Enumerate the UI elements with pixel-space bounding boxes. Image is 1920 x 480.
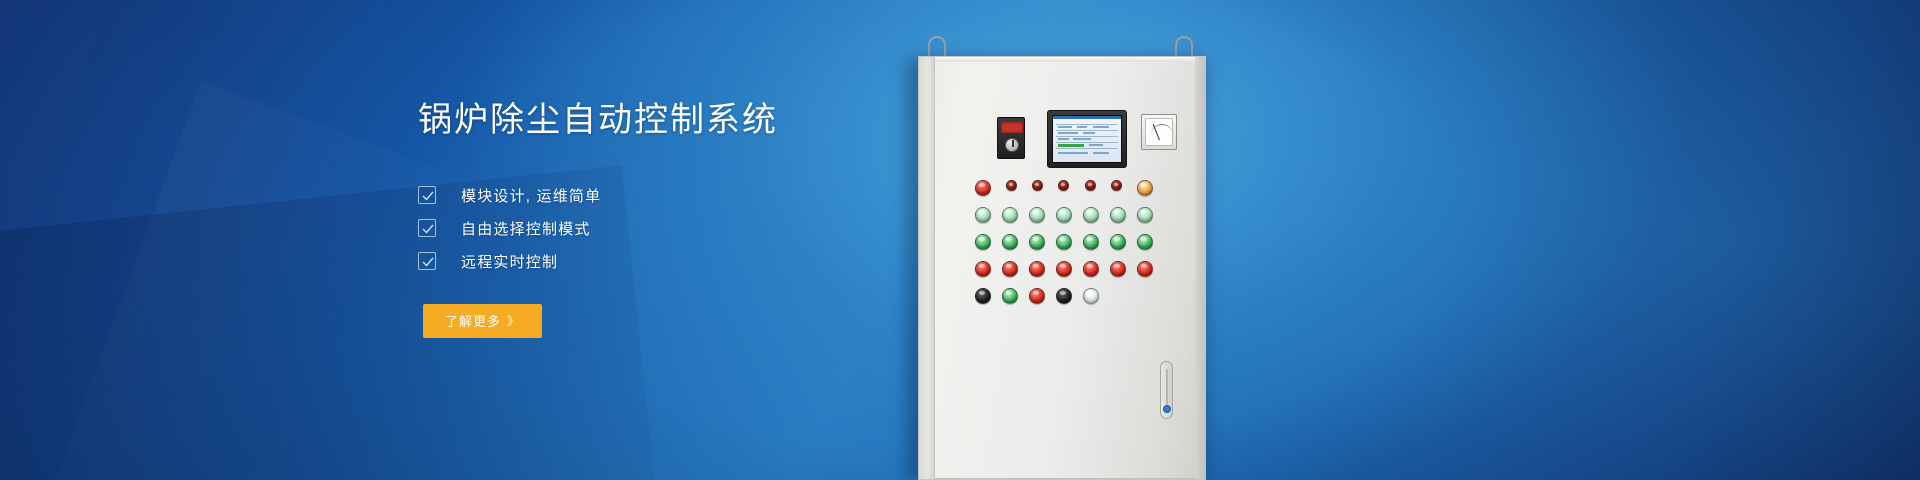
indicator-lamp-green[interactable] [975, 234, 991, 250]
hmi-grid-line [1056, 142, 1118, 143]
list-item: 模块设计, 运维简单 [418, 179, 978, 212]
indicator-lamp-light-green[interactable] [1056, 207, 1072, 223]
indicator-lamp-red[interactable] [1110, 261, 1126, 277]
knob-display [1001, 122, 1023, 133]
lifting-eye-icon [928, 36, 946, 58]
push-button-green[interactable] [1002, 288, 1018, 304]
lamp-row [975, 207, 1153, 223]
indicator-lamp-red[interactable] [1083, 261, 1099, 277]
indicator-lamp-light-green[interactable] [1110, 207, 1126, 223]
checkbox-checked-icon [418, 252, 436, 270]
lamp-row [975, 288, 1099, 304]
indicator-lamp-green[interactable] [1056, 234, 1072, 250]
hmi-titlebar [1053, 116, 1121, 119]
indicator-lamp-dark-red[interactable] [1085, 180, 1096, 191]
control-cabinet-photo [900, 0, 1320, 480]
indicator-lamp-dark-red[interactable] [1111, 180, 1122, 191]
learn-more-button[interactable]: 了解更多 》 [423, 304, 542, 338]
indicator-lamp-amber[interactable] [1137, 180, 1153, 196]
hmi-data-cell [1058, 126, 1072, 128]
selector-knob[interactable] [997, 117, 1025, 159]
feature-label: 模块设计, 运维简单 [461, 185, 601, 206]
indicator-lamp-red[interactable] [1056, 261, 1072, 277]
cabinet-hinge-strip [919, 57, 935, 479]
push-button-red[interactable] [1029, 288, 1045, 304]
handle-slot [1166, 369, 1168, 405]
lamp-row [975, 180, 1153, 196]
lifting-eye-icon [1175, 36, 1193, 58]
knob-dial-icon[interactable] [1005, 138, 1019, 152]
indicator-lamp-green[interactable] [1002, 234, 1018, 250]
indicator-lamp-red[interactable] [1137, 261, 1153, 277]
hero-banner: 锅炉除尘自动控制系统 模块设计, 运维简单 自由选择控制模式 [0, 0, 1920, 480]
meter-face [1145, 118, 1173, 146]
push-button-black[interactable] [1056, 288, 1072, 304]
indicator-lamp-dark-red[interactable] [1032, 180, 1043, 191]
push-button-white[interactable] [1083, 288, 1099, 304]
indicator-lamp-green[interactable] [1137, 234, 1153, 250]
indicator-lamp-light-green[interactable] [1002, 207, 1018, 223]
chevron-right-icon: 》 [507, 312, 520, 329]
hmi-data-cell [1073, 138, 1091, 140]
indicator-lamp-red[interactable] [1002, 261, 1018, 277]
door-handle[interactable] [1160, 361, 1173, 419]
indicator-lamp-green[interactable] [1083, 234, 1099, 250]
hmi-data-cell [1083, 132, 1095, 134]
lamp-row [975, 234, 1153, 250]
indicator-lamp-light-green[interactable] [1083, 207, 1099, 223]
indicator-lamp-dark-red[interactable] [1006, 180, 1017, 191]
hmi-grid-line [1056, 124, 1118, 125]
banner-copy: 锅炉除尘自动控制系统 模块设计, 运维简单 自由选择控制模式 [418, 100, 978, 338]
push-button-black[interactable] [975, 288, 991, 304]
lock-icon[interactable] [1163, 405, 1171, 413]
cabinet-right-edge [1195, 57, 1205, 479]
feature-label: 远程实时控制 [461, 251, 558, 272]
hmi-status-bar [1058, 144, 1084, 147]
hmi-data-cell [1093, 126, 1109, 128]
hmi-data-cell [1077, 126, 1087, 128]
feature-list: 模块设计, 运维简单 自由选择控制模式 远程实时控制 [418, 179, 978, 278]
indicator-lamp-light-green[interactable] [1137, 207, 1153, 223]
list-item: 远程实时控制 [418, 245, 978, 278]
hmi-data-cell [1089, 144, 1103, 146]
hmi-data-cell [1058, 152, 1088, 154]
feature-label: 自由选择控制模式 [461, 218, 591, 239]
cabinet-body [918, 56, 1206, 480]
hmi-screen [1052, 115, 1122, 163]
page-title: 锅炉除尘自动控制系统 [418, 100, 978, 141]
hmi-data-cell [1058, 132, 1078, 134]
cabinet-door [935, 62, 1195, 479]
indicator-lamp-red[interactable] [975, 180, 991, 196]
lamp-row [975, 261, 1153, 277]
indicator-lamp-dark-red[interactable] [1058, 180, 1069, 191]
door-seam [935, 478, 1195, 479]
indicator-lamp-red[interactable] [1029, 261, 1045, 277]
indicator-lamp-light-green[interactable] [975, 207, 991, 223]
hmi-data-cell [1093, 152, 1109, 154]
hmi-grid-line [1056, 148, 1118, 149]
indicator-lamp-green[interactable] [1110, 234, 1126, 250]
checkbox-checked-icon [418, 186, 436, 204]
checkbox-checked-icon [418, 219, 436, 237]
learn-more-label: 了解更多 [445, 311, 501, 330]
hmi-grid-line [1056, 130, 1118, 131]
indicator-lamp-grid [975, 180, 1153, 315]
analog-meter [1141, 114, 1177, 150]
indicator-lamp-red[interactable] [975, 261, 991, 277]
hmi-data-cell [1058, 138, 1069, 140]
indicator-lamp-light-green[interactable] [1029, 207, 1045, 223]
light-streak-decoration [0, 0, 474, 480]
hmi-grid-line [1056, 136, 1118, 137]
indicator-lamp-green[interactable] [1029, 234, 1045, 250]
hmi-touchscreen[interactable] [1047, 110, 1127, 168]
list-item: 自由选择控制模式 [418, 212, 978, 245]
